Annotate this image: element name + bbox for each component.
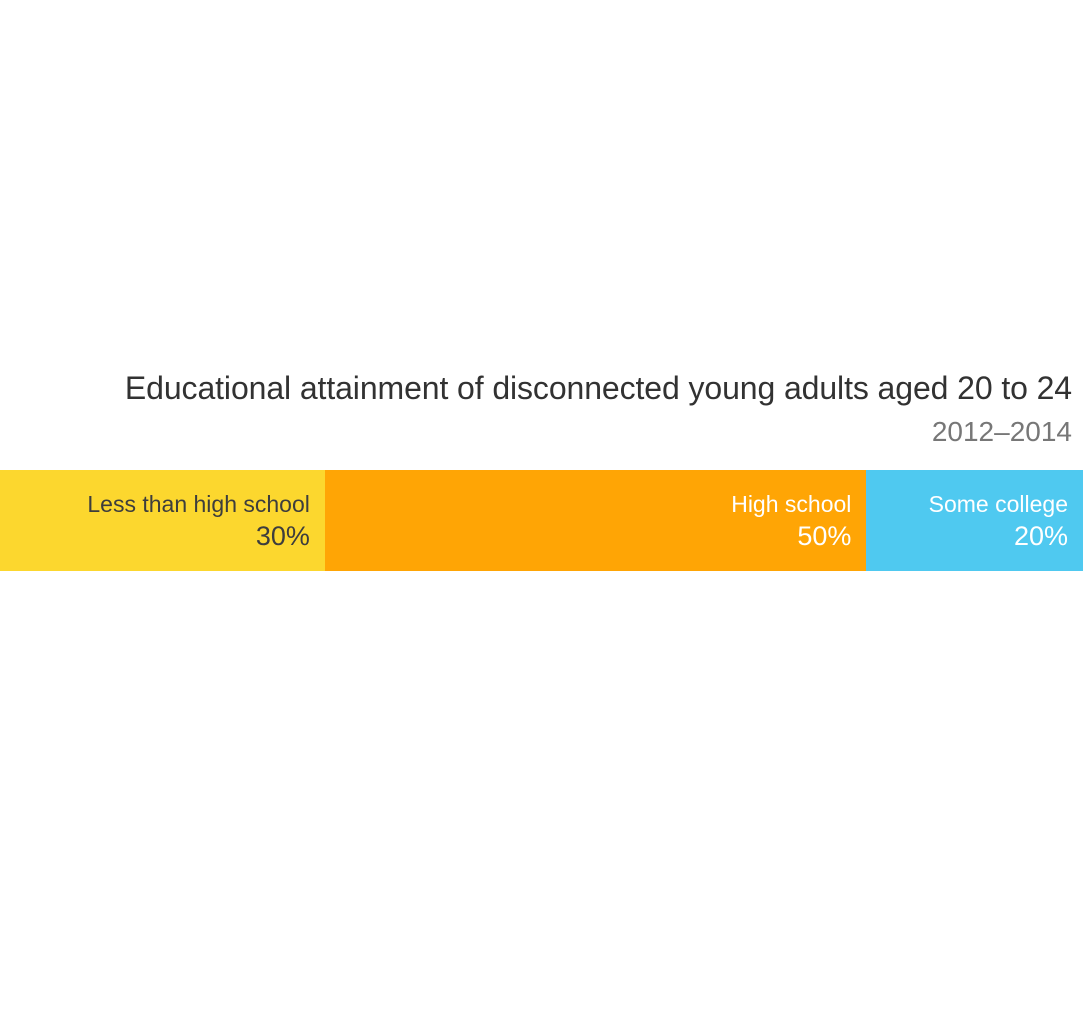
bar-segment-high-school[interactable]: High school 50% xyxy=(325,470,867,571)
segment-value-some-college: 20% xyxy=(1014,519,1068,553)
segment-label-high-school: High school xyxy=(731,489,851,519)
chart-subtitle: 2012–2014 xyxy=(0,411,1072,453)
segment-value-high-school: 50% xyxy=(797,519,851,553)
bar-segment-less-than-high-school[interactable]: Less than high school 30% xyxy=(0,470,325,571)
stacked-bar-chart: Less than high school 30% High school 50… xyxy=(0,470,1083,571)
chart-title: Educational attainment of disconnected y… xyxy=(0,366,1072,411)
segment-label-some-college: Some college xyxy=(929,489,1068,519)
chart-heading: Educational attainment of disconnected y… xyxy=(0,366,1083,453)
segment-value-less-than-high-school: 30% xyxy=(256,519,310,553)
chart-figure: Educational attainment of disconnected y… xyxy=(0,0,1083,1033)
segment-label-less-than-high-school: Less than high school xyxy=(87,489,310,519)
bar-segment-some-college[interactable]: Some college 20% xyxy=(866,470,1083,571)
